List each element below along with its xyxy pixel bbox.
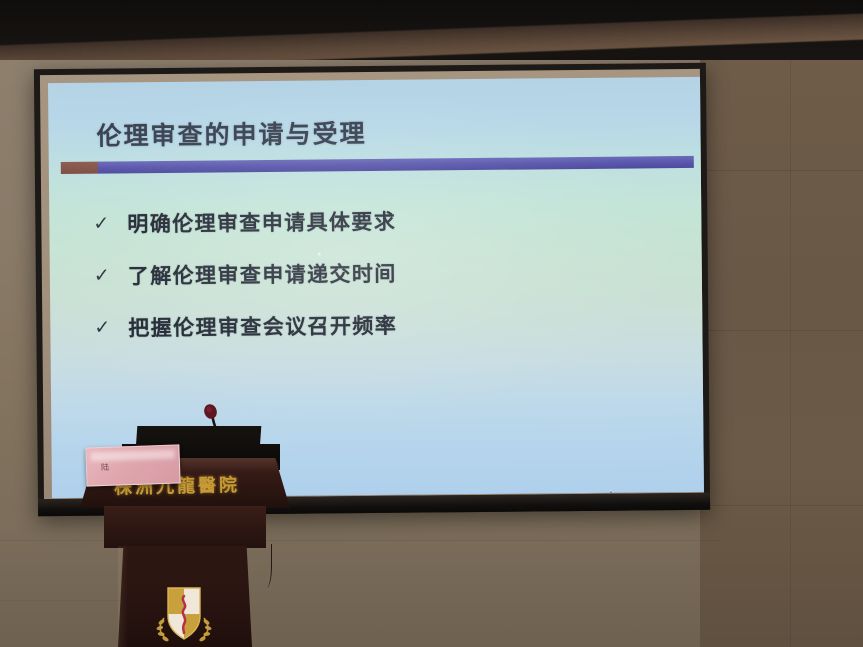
list-item-label: 把握伦理审查会议召开频率 xyxy=(128,310,397,343)
projector-speck xyxy=(318,252,321,255)
list-item-label: 明确伦理审查申请具体要求 xyxy=(127,206,396,239)
wall-seam xyxy=(700,170,863,171)
wall-seam xyxy=(700,505,863,506)
list-item-label: 了解伦理审查申请递交时间 xyxy=(128,258,397,291)
podium-neck xyxy=(104,506,266,548)
hospital-emblem-icon xyxy=(150,582,218,644)
check-icon: ✓ xyxy=(94,316,128,339)
list-item: ✓ 了解伦理审查申请递交时间 xyxy=(94,244,654,301)
right-wall-panel xyxy=(700,60,863,647)
title-underline-bar xyxy=(98,156,694,174)
slide-title: 伦理审查的申请与受理 xyxy=(96,114,366,153)
list-item: ✓ 明确伦理审查申请具体要求 xyxy=(93,192,653,249)
check-icon: ✓ xyxy=(93,212,127,235)
podium-column-highlight xyxy=(118,546,128,647)
check-icon: ✓ xyxy=(94,264,128,287)
podium: 株洲九龍醫院 陆 xyxy=(78,414,292,647)
list-item: ✓ 把握伦理审查会议召开频率 xyxy=(94,296,654,353)
slide-bullet-list: ✓ 明确伦理审查申请具体要求 ✓ 了解伦理审查申请递交时间 ✓ 把握伦理审查会议… xyxy=(93,192,654,353)
nameplate: 陆 xyxy=(85,444,180,486)
wall-seam-vertical xyxy=(790,60,791,647)
conference-room-photo: 伦理审查的申请与受理 ✓ 明确伦理审查申请具体要求 ✓ 了解伦理审查申请递交时间… xyxy=(0,0,863,647)
nameplate-text: 陆 xyxy=(101,462,114,473)
nameplate-gloss xyxy=(91,450,175,462)
title-accent-bar xyxy=(61,162,99,174)
podium-cable xyxy=(261,544,272,588)
wall-seam xyxy=(700,330,863,331)
